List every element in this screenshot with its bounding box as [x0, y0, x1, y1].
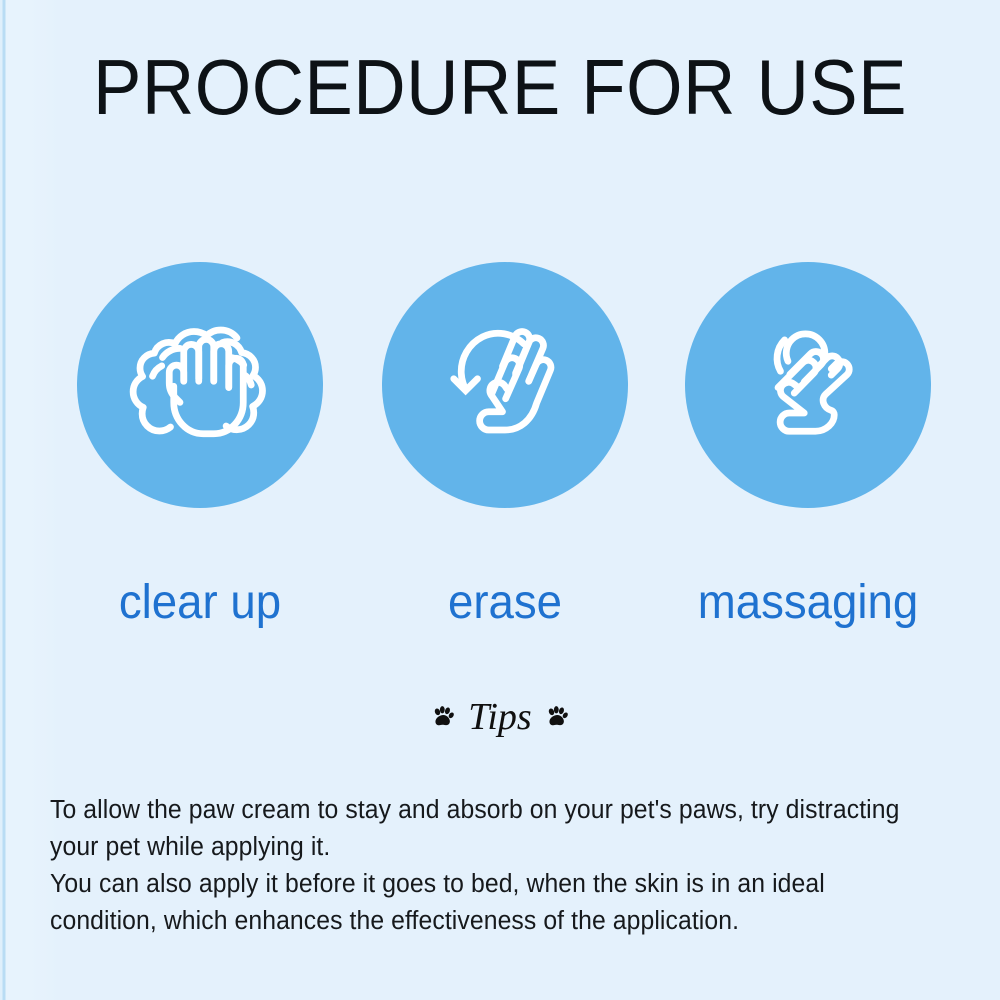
paw-print-icon	[546, 706, 568, 728]
step-icon-circle	[685, 262, 931, 508]
step-icon-circle	[77, 262, 323, 508]
tips-title: Tips	[468, 694, 531, 740]
paw-print-icon	[432, 706, 454, 728]
step-clear-up[interactable]	[77, 262, 323, 508]
tips-paragraph-2: You can also apply it before it goes to …	[50, 866, 935, 940]
step-label-clear-up: clear up	[83, 572, 317, 634]
step-labels-row: clear up erase massaging	[0, 572, 1000, 636]
step-icon-circle	[382, 262, 628, 508]
procedure-for-use-panel: PROCEDURE FOR USE	[0, 0, 1000, 1000]
step-massaging[interactable]	[685, 262, 931, 508]
tips-body: To allow the paw cream to stay and absor…	[50, 792, 935, 940]
wiping-hand-arrow-icon	[430, 310, 580, 460]
tips-paragraph-1: To allow the paw cream to stay and absor…	[50, 792, 935, 866]
hand-with-foam-icon	[125, 310, 275, 460]
two-finger-tap-hand-icon	[733, 310, 883, 460]
page-title: PROCEDURE FOR USE	[35, 44, 965, 130]
steps-row	[0, 262, 1000, 512]
step-label-erase: erase	[388, 572, 622, 634]
step-label-massaging: massaging	[691, 572, 925, 634]
step-erase[interactable]	[382, 262, 628, 508]
tips-heading: Tips	[0, 694, 1000, 740]
